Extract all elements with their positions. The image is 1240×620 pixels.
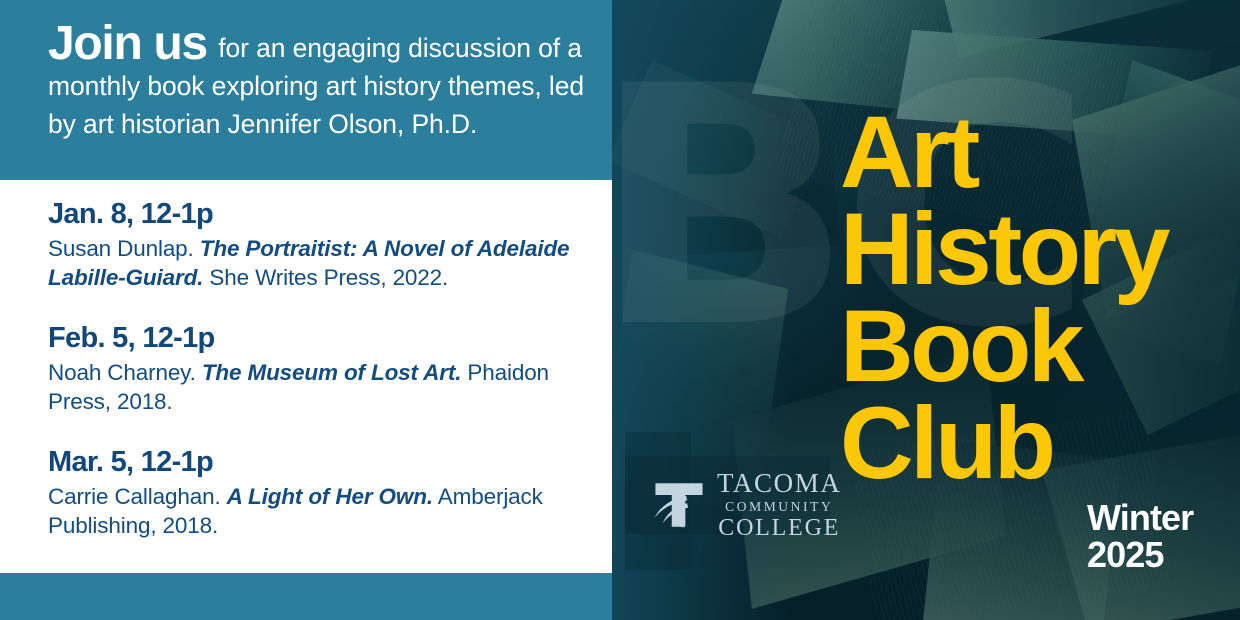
event-author: Carrie Callaghan. [48, 484, 227, 509]
event-citation: Noah Charney. The Museum of Lost Art. Ph… [48, 358, 608, 416]
event-citation: Susan Dunlap. The Portraitist: A Novel o… [48, 234, 608, 292]
event-book-title: A Light of Her Own. [227, 484, 433, 509]
event-date: Mar. 5, 12-1p [48, 445, 608, 479]
logo-line-tacoma: TACOMA [717, 470, 841, 497]
event-date: Jan. 8, 12-1p [48, 197, 608, 231]
title-line-history: History [840, 201, 1240, 298]
poster-canvas: BC TACOMA COMMUNITY COLLEGE Art History … [0, 0, 1240, 620]
event-book-title: The Museum of Lost Art. [202, 360, 461, 385]
season-year: 2025 [1087, 536, 1193, 573]
intro-text: Join us for an engaging discussion of a … [48, 22, 588, 143]
join-us-lead: Join us [48, 17, 207, 70]
footer-accent-bar [0, 573, 612, 620]
event-publisher: She Writes Press, 2022. [203, 265, 448, 290]
logo-line-community: COMMUNITY [717, 500, 841, 514]
event-citation: Carrie Callaghan. A Light of Her Own. Am… [48, 482, 608, 540]
event-author: Noah Charney. [48, 360, 202, 385]
event-date: Feb. 5, 12-1p [48, 321, 608, 355]
logo-wordmark: TACOMA COMMUNITY COLLEGE [717, 470, 841, 540]
title-line-club: Club [840, 395, 1240, 492]
event-list-panel: Jan. 8, 12-1p Susan Dunlap. The Portrait… [0, 180, 612, 573]
tcc-t-swoosh-icon [650, 477, 708, 533]
intro-header-block: Join us for an engaging discussion of a … [0, 0, 612, 180]
event-entry: Mar. 5, 12-1p Carrie Callaghan. A Light … [48, 445, 608, 540]
poster-title: Art History Book Club [840, 104, 1240, 492]
title-line-art: Art [840, 104, 1240, 201]
logo-line-college: COLLEGE [717, 516, 841, 540]
event-author: Susan Dunlap. [48, 236, 200, 261]
season-label: Winter 2025 [1087, 499, 1193, 573]
event-entry: Feb. 5, 12-1p Noah Charney. The Museum o… [48, 321, 608, 416]
event-entry: Jan. 8, 12-1p Susan Dunlap. The Portrait… [48, 197, 608, 292]
tacoma-community-college-logo: TACOMA COMMUNITY COLLEGE [650, 470, 841, 540]
title-line-book: Book [840, 298, 1240, 395]
season-term: Winter [1087, 499, 1193, 536]
